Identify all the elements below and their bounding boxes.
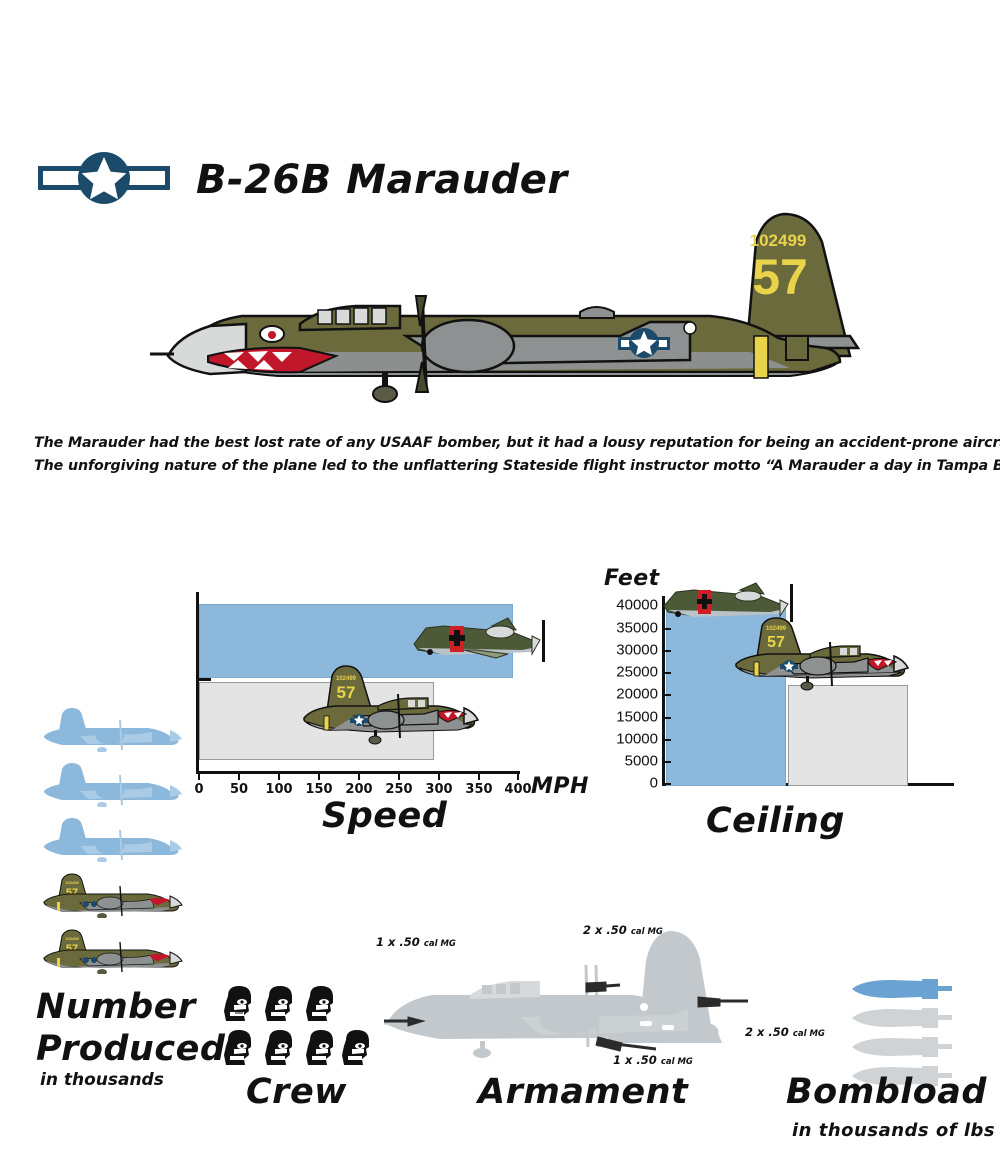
speed-tick-100: 100 — [265, 782, 292, 797]
speed-tick-200: 200 — [345, 782, 372, 797]
tail-serial-text: 102499 — [750, 231, 807, 250]
armament-diagram: 1 x .50 cal MG 2 x .50 cal MG 2 x .50 ca… — [370, 925, 750, 1070]
produced-section-title-line2: Produced — [36, 1030, 225, 1068]
airman-head-icon-1 — [222, 984, 256, 1022]
speed-tick-50: 50 — [230, 782, 248, 797]
ceiling-tick-40000: 40000 — [616, 597, 658, 614]
bomb-icon-empty-1 — [848, 1007, 956, 1029]
ceiling-unit-label: Feet — [604, 566, 660, 591]
header: B-26B Marauder — [0, 0, 1000, 215]
speed-tick-400: 400 — [504, 782, 531, 797]
ceiling-tick-15000: 15000 — [616, 709, 658, 726]
produced-section-subtitle: in thousands — [40, 1070, 164, 1090]
ceiling-tick-10000: 10000 — [616, 731, 658, 748]
airman-head-icon-7 — [340, 1028, 374, 1066]
airman-head-icon-5 — [263, 1028, 297, 1066]
ceiling-tick-20000: 20000 — [616, 686, 658, 703]
svg-text:102499: 102499 — [766, 626, 787, 632]
speed-tick-150: 150 — [305, 782, 332, 797]
produced-icon-empty-2 — [36, 761, 196, 807]
ceiling-tick-5000: 5000 — [625, 753, 658, 770]
crew-section-title: Crew — [246, 1073, 347, 1111]
svg-text:57: 57 — [767, 634, 785, 651]
armament-label-tail: 2 x .50 cal MG — [745, 1025, 825, 1039]
airman-head-icon-4 — [222, 1028, 256, 1066]
description-block: The Marauder had the best lost rate of a… — [34, 432, 984, 478]
bomb-icon-empty-2 — [848, 1036, 956, 1058]
armament-section-title: Armament — [478, 1073, 688, 1111]
airman-head-icon-6 — [304, 1028, 338, 1066]
speed-tick-300: 300 — [425, 782, 452, 797]
speed-chart: 0 50 100 150 200 250 300 350 400 MPH 102… — [196, 592, 576, 792]
armament-label-dorsal: 2 x .50 cal MG — [583, 923, 663, 937]
produced-icon-filled-2: 102499 57 — [36, 928, 196, 974]
speed-marauder-illustration: 102499 57 — [288, 664, 480, 758]
svg-text:102499: 102499 — [65, 880, 79, 885]
speed-fighter-illustration — [404, 610, 552, 670]
description-line-2: The unforgiving nature of the plane led … — [34, 455, 984, 478]
produced-section-title-line1: Number — [36, 988, 196, 1026]
produced-icon-empty-3 — [36, 816, 196, 862]
ceiling-tick-30000: 30000 — [616, 642, 658, 659]
ceiling-bar-marauder — [788, 685, 908, 786]
bombload-section-title: Bombload — [786, 1073, 987, 1111]
description-line-1: The Marauder had the best lost rate of a… — [34, 432, 984, 455]
hero-aircraft-illustration: 102499 57 — [150, 196, 940, 426]
number-produced-pictogram: 102499 57 102499 57 — [36, 706, 196, 976]
svg-text:102499: 102499 — [65, 936, 79, 941]
bombload-section-subtitle: in thousands of lbs — [792, 1112, 995, 1150]
ceiling-marauder-illustration: 102499 57 — [722, 616, 912, 692]
svg-text:57: 57 — [337, 683, 356, 702]
bomb-icon-filled-1 — [848, 978, 956, 1000]
speed-tick-250: 250 — [385, 782, 412, 797]
ceiling-tick-35000: 35000 — [616, 620, 658, 637]
crew-pictogram — [222, 984, 372, 1066]
armament-label-ventral: 1 x .50 cal MG — [613, 1053, 693, 1067]
ceiling-chart: 40000 35000 30000 25000 20000 15000 1000… — [604, 596, 964, 806]
airman-head-icon-3 — [304, 984, 338, 1022]
ceiling-section-title: Ceiling — [706, 802, 845, 840]
tail-number-text: 57 — [752, 249, 808, 305]
ceiling-tick-25000: 25000 — [616, 664, 658, 681]
ceiling-tick-0: 0 — [650, 775, 658, 792]
armament-label-nose: 1 x .50 cal MG — [376, 935, 456, 949]
airman-head-icon-2 — [263, 984, 297, 1022]
speed-unit-label: MPH — [531, 774, 589, 799]
speed-tick-350: 350 — [465, 782, 492, 797]
speed-bar-marker — [199, 678, 211, 681]
produced-icon-empty-1 — [36, 706, 196, 752]
svg-text:102499: 102499 — [336, 676, 357, 682]
speed-section-title: Speed — [322, 797, 447, 835]
produced-icon-filled-1: 102499 57 — [36, 872, 196, 918]
